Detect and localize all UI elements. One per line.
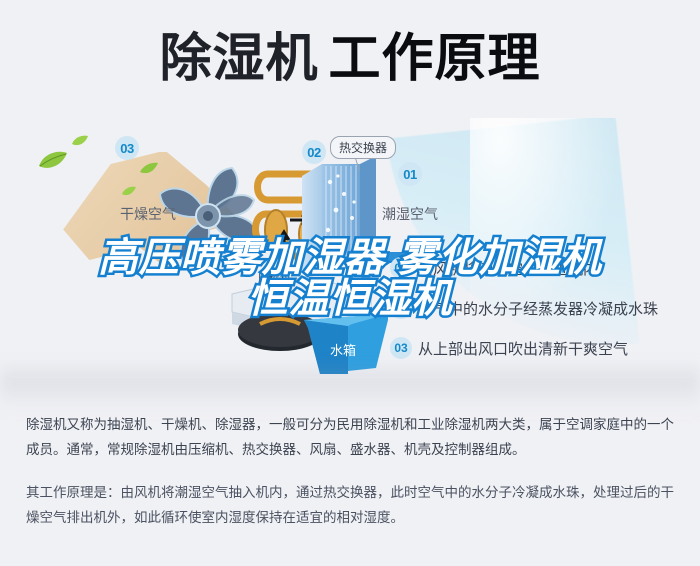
- page-title-part1: 除湿机: [159, 30, 318, 88]
- dehumidifier-diagram: 01 02 03 干燥空气 潮湿空气 水箱 压缩机 热交换器 01 由风机将潮湿…: [0, 118, 700, 398]
- diagram-badge-02: 02: [302, 140, 326, 164]
- step-number: 03: [390, 337, 412, 359]
- label-compressor: 压缩机: [258, 270, 291, 286]
- label-humid-air: 潮湿空气: [382, 204, 438, 224]
- step-text: 由风机将潮湿空气抽进机内: [418, 258, 598, 279]
- step-number: 01: [390, 257, 412, 279]
- steps-list: 01 由风机将潮湿空气抽进机内 02 空气中的水分子经蒸发器冷凝成水珠 03 从…: [390, 248, 690, 368]
- list-item: 03 从上部出风口吹出清新干爽空气: [390, 328, 690, 368]
- label-dry-air: 干燥空气: [120, 204, 176, 224]
- list-item: 01 由风机将潮湿空气抽进机内: [390, 248, 690, 288]
- body-paragraph-2: 其工作原理是：由风机将潮湿空气抽入机内，通过热交换器，此时空气中的水分子冷凝成水…: [26, 480, 678, 530]
- page-title: 除湿机工作原理: [159, 33, 540, 85]
- step-text: 从上部出风口吹出清新干爽空气: [418, 338, 628, 359]
- step-number: 02: [390, 297, 412, 319]
- leaf-icon-1: [38, 150, 68, 175]
- leaf-icon-2: [72, 134, 88, 152]
- label-water-tank: 水箱: [330, 340, 356, 359]
- diagram-badge-03: 03: [115, 136, 139, 160]
- diagram-badge-01: 01: [398, 162, 422, 186]
- page-title-part2: 工作原理: [329, 30, 541, 88]
- list-item: 02 空气中的水分子经蒸发器冷凝成水珠: [390, 288, 690, 328]
- body-paragraph-1: 除湿机又称为抽湿机、干燥机、除湿器，一般可分为民用除湿机和工业除湿机两大类，属于…: [26, 412, 678, 462]
- article-body: 除湿机又称为抽湿机、干燥机、除湿器，一般可分为民用除湿机和工业除湿机两大类，属于…: [26, 412, 678, 548]
- page-title-bar: 除湿机工作原理: [0, 0, 700, 118]
- leaf-icon-4: [122, 184, 136, 202]
- callout-heat-exchanger: 热交换器: [330, 136, 396, 159]
- step-text: 空气中的水分子经蒸发器冷凝成水珠: [418, 298, 658, 319]
